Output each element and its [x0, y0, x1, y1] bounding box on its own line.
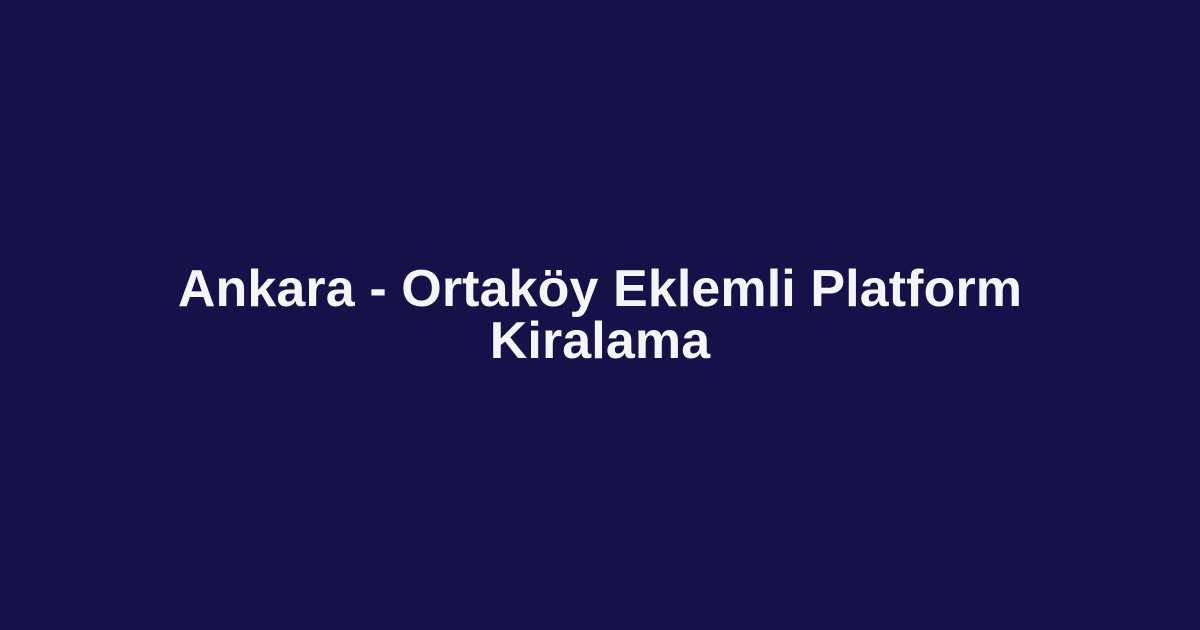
social-share-card: Ankara - Ortaköy Eklemli Platform Kirala… [0, 0, 1200, 630]
page-title: Ankara - Ortaköy Eklemli Platform Kirala… [165, 263, 1035, 367]
hero-text-block: Ankara - Ortaköy Eklemli Platform Kirala… [0, 263, 1200, 367]
